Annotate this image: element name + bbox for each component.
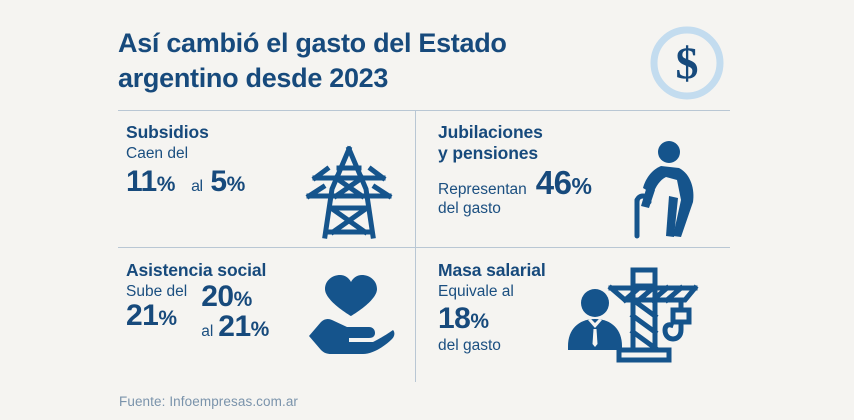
stat-value-jubilaciones: 46%	[536, 166, 592, 199]
value-from-number: 21	[126, 299, 158, 332]
source-credit: Fuente: Infoempresas.com.ar	[119, 394, 298, 409]
stat-values-asistencia-social: Sube del 21% 20% al 21%	[126, 283, 409, 342]
stat-value-to-row: al 21%	[201, 312, 269, 342]
value-to-unit: %	[227, 173, 245, 196]
stat-title-masa-salarial: Masa salarial	[438, 260, 707, 281]
stat-text-masa-salarial: Masa salarial Equivale al 18% del gasto	[438, 260, 707, 356]
value-from-unit: %	[158, 307, 176, 330]
lede-line-1: Representan	[438, 181, 527, 200]
stat-values-jubilaciones: Representan del gasto 46%	[438, 166, 707, 219]
value-number: 46	[536, 164, 572, 201]
value-unit: %	[470, 310, 488, 333]
value-connector: al	[191, 178, 202, 195]
value-unit: %	[571, 173, 591, 199]
dollar-circle-icon: $	[646, 22, 728, 109]
stat-values-subsidios: 11% al 5%	[126, 167, 409, 197]
stat-text-jubilaciones: Jubilaciones y pensiones Representan del…	[438, 122, 707, 219]
stat-value-to-asistencia: 21%	[218, 312, 269, 342]
value-number: 18	[438, 302, 470, 335]
stat-lede-jubilaciones: Representan del gasto	[438, 181, 527, 219]
stat-title-asistencia-social: Asistencia social	[126, 260, 409, 281]
page-title: Así cambió el gasto del Estado argentino…	[118, 26, 507, 95]
stat-lede-subsidios: Caen del	[126, 145, 409, 164]
lede-line-2: del gasto	[438, 200, 527, 219]
value-column-left: Sube del 21%	[126, 283, 187, 342]
infographic-root: Así cambió el gasto del Estado argentino…	[0, 0, 854, 420]
stat-cell-subsidios: Subsidios Caen del 11% al 5%	[118, 110, 415, 247]
stat-value-from-asistencia: 21%	[126, 301, 187, 331]
value-to-number: 21	[218, 310, 250, 343]
stat-title-jubilaciones: Jubilaciones y pensiones	[438, 122, 707, 164]
value-from-number: 11	[126, 165, 157, 198]
stat-value-from-subsidios: 11%	[126, 167, 175, 197]
stat-value-mid-asistencia: 20%	[201, 282, 269, 312]
value-connector: al	[201, 323, 213, 341]
stats-grid: Subsidios Caen del 11% al 5%	[118, 110, 730, 382]
stat-cell-jubilaciones: Jubilaciones y pensiones Representan del…	[416, 110, 713, 247]
value-column-right: 20% al 21%	[201, 282, 269, 342]
stat-cell-masa-salarial: Masa salarial Equivale al 18% del gasto	[416, 248, 713, 385]
stat-lede-line-2: del gasto	[438, 337, 707, 356]
stat-value-to-subsidios: al 5%	[191, 167, 245, 197]
value-to-unit: %	[251, 318, 269, 341]
stat-cell-asistencia-social: Asistencia social Sube del 21% 20% al 21…	[118, 248, 415, 385]
value-to-number: 5	[210, 165, 226, 198]
stat-lede-line-1: Equivale al	[438, 283, 707, 302]
header: Así cambió el gasto del Estado argentino…	[118, 18, 730, 106]
stat-text-asistencia-social: Asistencia social Sube del 21% 20% al 21…	[126, 260, 409, 342]
value-from-unit: %	[157, 173, 175, 196]
stat-title-subsidios: Subsidios	[126, 122, 409, 143]
stat-value-masa-salarial: 18%	[438, 304, 707, 334]
value-mid-number: 20	[201, 280, 233, 313]
value-mid-unit: %	[234, 288, 252, 311]
stat-text-subsidios: Subsidios Caen del 11% al 5%	[126, 122, 409, 197]
dollar-symbol: $	[676, 38, 699, 89]
